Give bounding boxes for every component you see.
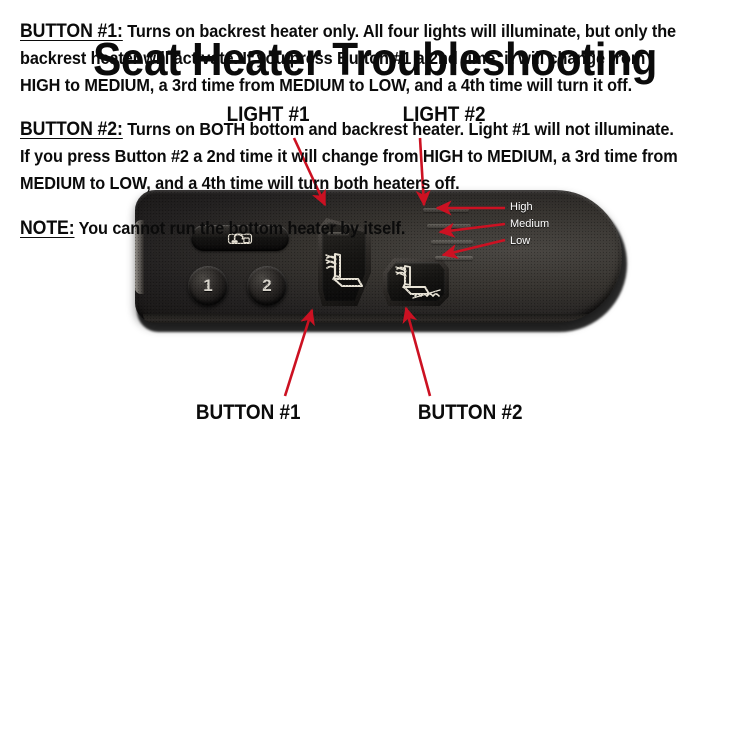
heated-seat-and-backrest-icon xyxy=(395,264,443,300)
instruction-lead-button-1: BUTTON #1: xyxy=(20,21,123,42)
both-button-bezel xyxy=(383,258,449,306)
callout-label-button-2: BUTTON #2 xyxy=(418,401,523,425)
panel-bottom-lip xyxy=(143,314,613,323)
instruction-text-note: You cannot run the bottom heater by itse… xyxy=(75,218,406,238)
memory-preset-button-1[interactable]: 1 xyxy=(188,266,228,306)
memory-preset-2-label: 2 xyxy=(262,276,271,296)
seat-heater-troubleshooting-diagram: Seat Heater Troubleshooting LIGHT #1 LIG… xyxy=(0,0,750,750)
instruction-paragraph-button-2: BUTTON #2: Turns on BOTH bottom and back… xyxy=(20,116,682,197)
instruction-paragraph-note: NOTE: You cannot run the bottom heater b… xyxy=(20,215,682,242)
instruction-paragraph-button-1: BUTTON #1: Turns on backrest heater only… xyxy=(20,18,682,99)
both-heaters-button[interactable] xyxy=(383,258,449,306)
instruction-lead-button-2: BUTTON #2: xyxy=(20,119,123,140)
callout-label-button-1: BUTTON #1 xyxy=(196,401,301,425)
memory-preset-1-label: 1 xyxy=(203,276,212,296)
memory-preset-button-2[interactable]: 2 xyxy=(247,266,287,306)
instruction-lead-note: NOTE: xyxy=(20,218,75,239)
instructions-block: BUTTON #1: Turns on backrest heater only… xyxy=(20,0,732,259)
both-button-cap xyxy=(387,262,445,301)
